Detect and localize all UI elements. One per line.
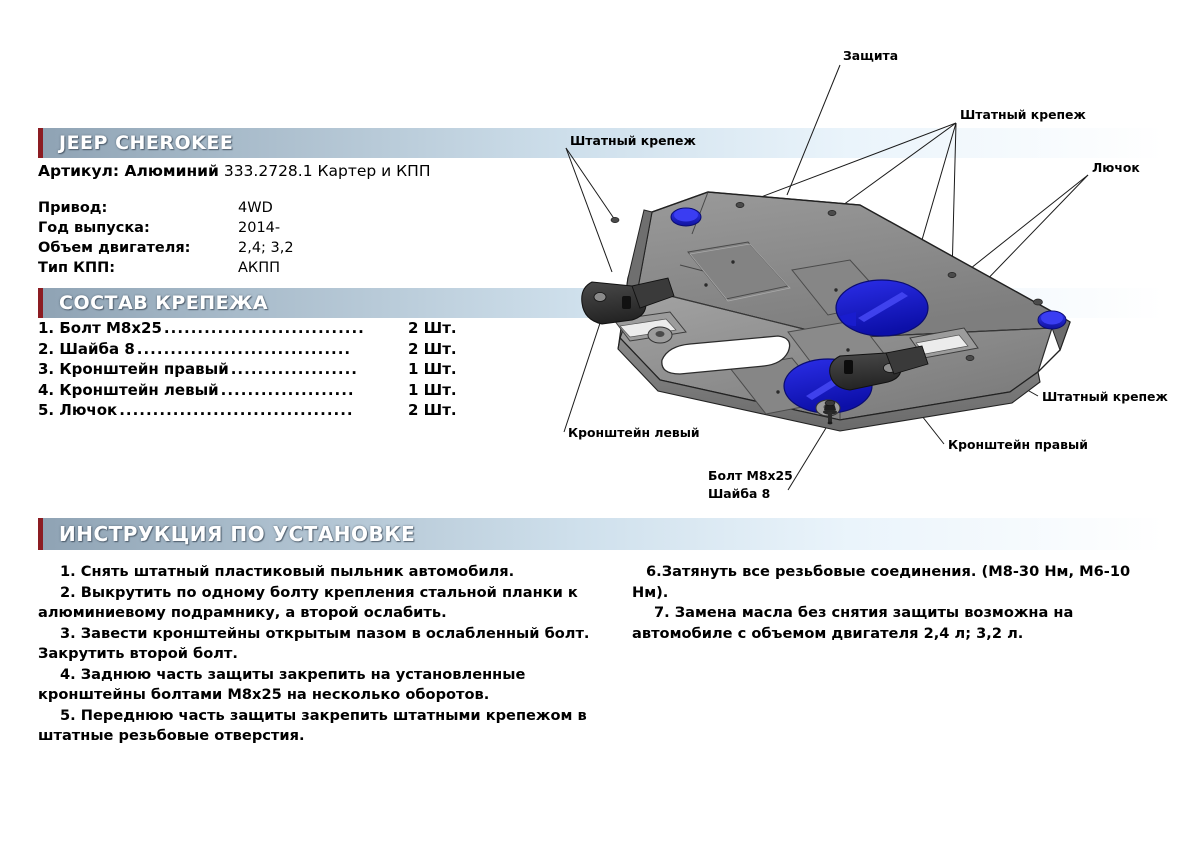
leader-dots: .................... [221, 380, 394, 401]
instructions-title-bar: ИНСТРУКЦИЯ ПО УСТАНОВКЕ [38, 518, 1164, 550]
spec-value: АКПП [238, 258, 280, 278]
hatch-cover-upper [836, 280, 928, 336]
article-line: Артикул: Алюминий 333.2728.1 Картер и КП… [38, 162, 431, 180]
callout-zashchita: Защита [843, 48, 898, 63]
spec-table: Привод: 4WD Год выпуска: 2014- Объем дви… [38, 198, 294, 278]
fasteners-title: СОСТАВ КРЕПЕЖА [43, 292, 268, 314]
callout-lyuchok: Лючок [1092, 160, 1140, 175]
callout-shtatny-top-right: Штатный крепеж [960, 107, 1086, 122]
instructions-title: ИНСТРУКЦИЯ ПО УСТАНОВКЕ [43, 522, 415, 546]
spec-key: Год выпуска: [38, 218, 238, 238]
leader-dots: .............................. [164, 318, 394, 339]
callout-kronshtein-pravy: Кронштейн правый [948, 437, 1088, 452]
instruction-step: 6.Затянуть все резьбовые соединения. (М8… [632, 562, 1168, 603]
callout-kronshtein-levy: Кронштейн левый [568, 425, 700, 440]
fastener-item: 5. Лючок ...............................… [38, 400, 468, 421]
instruction-step: 7. Замена масла без снятия защиты возмож… [632, 603, 1168, 644]
spec-row: Объем двигателя: 2,4; 3,2 [38, 238, 294, 258]
leader-dots: ................................... [119, 400, 394, 421]
spec-row: Тип КПП: АКПП [38, 258, 294, 278]
spec-row: Привод: 4WD [38, 198, 294, 218]
fastener-item: 2. Шайба 8 .............................… [38, 339, 468, 360]
fastener-item: 4. Кронштейн левый .................... … [38, 380, 468, 401]
fastener-item: 1. Болт М8х25 ..........................… [38, 318, 468, 339]
fastener-qty: 1 Шт. [396, 380, 468, 401]
article-label: Артикул: Алюминий [38, 162, 219, 180]
instruction-step: 3. Завести кронштейны открытым пазом в о… [38, 624, 628, 665]
spec-value: 2014- [238, 218, 280, 238]
callout-shtatny-top-left: Штатный крепеж [570, 133, 696, 148]
spec-key: Объем двигателя: [38, 238, 238, 258]
fastener-name: 3. Кронштейн правый [38, 359, 229, 380]
spec-value: 2,4; 3,2 [238, 238, 294, 258]
instructions-left-column: 1. Снять штатный пластиковый пыльник авт… [38, 562, 628, 747]
leader-dots: ................................ [137, 339, 394, 360]
fastener-name: 1. Болт М8х25 [38, 318, 162, 339]
instruction-step: 2. Выкрутить по одному болту крепления с… [38, 583, 628, 624]
fastener-name: 2. Шайба 8 [38, 339, 135, 360]
callout-bolt: Болт М8х25 [708, 468, 793, 483]
leader-dots: ................... [231, 359, 394, 380]
instructions-right-column: 6.Затянуть все резьбовые соединения. (М8… [632, 562, 1168, 644]
fasteners-list: 1. Болт М8х25 ..........................… [38, 318, 468, 421]
spec-row: Год выпуска: 2014- [38, 218, 294, 238]
spec-key: Тип КПП: [38, 258, 238, 278]
fastener-item: 3. Кронштейн правый ................... … [38, 359, 468, 380]
vehicle-title: JEEP CHEROKEE [43, 132, 233, 154]
fastener-name: 4. Кронштейн левый [38, 380, 219, 401]
plug-top-left [671, 208, 701, 226]
spec-key: Привод: [38, 198, 238, 218]
fastener-qty: 1 Шт. [396, 359, 468, 380]
fastener-qty: 2 Шт. [396, 400, 468, 421]
fastener-qty: 2 Шт. [396, 339, 468, 360]
fastener-name: 5. Лючок [38, 400, 117, 421]
instruction-step: 1. Снять штатный пластиковый пыльник авт… [38, 562, 628, 583]
instruction-step: 4. Заднюю часть защиты закрепить на уста… [38, 665, 628, 706]
instruction-step: 5. Переднюю часть защиты закрепить штатн… [38, 706, 628, 747]
article-value: 333.2728.1 Картер и КПП [224, 162, 431, 180]
callout-shtatny-bottom-right: Штатный крепеж [1042, 389, 1168, 404]
plug-right-edge [1038, 311, 1066, 329]
document-page: JEEP CHEROKEE Артикул: Алюминий 333.2728… [0, 0, 1200, 848]
fastener-qty: 2 Шт. [396, 318, 468, 339]
skid-plate-diagram: Защита Штатный крепеж Штатный крепеж Люч… [540, 20, 1200, 520]
spec-value: 4WD [238, 198, 273, 218]
callout-shayba: Шайба 8 [708, 486, 770, 501]
